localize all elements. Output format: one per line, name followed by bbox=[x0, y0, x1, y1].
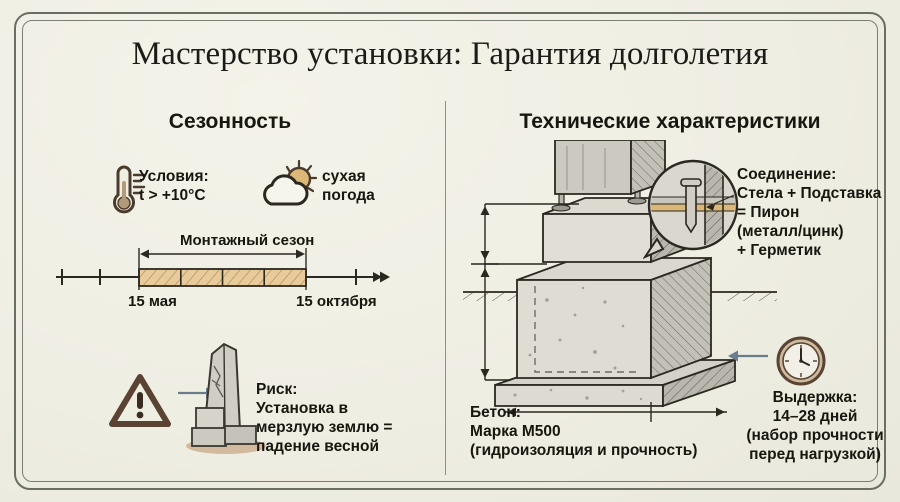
concrete-label: Бетон: Марка М500 (гидроизоляция и прочн… bbox=[470, 403, 697, 460]
curing-label: Выдержка: 14–28 дней (набор прочности пе… bbox=[735, 388, 895, 464]
sun-cloud-icon bbox=[258, 158, 320, 214]
warning-triangle-icon bbox=[108, 372, 172, 430]
section-divider bbox=[445, 101, 446, 475]
page-title: Мастерство установки: Гарантия долголети… bbox=[0, 36, 900, 73]
connection-label: Соединение: Стела + Подставка = Пирон (м… bbox=[737, 165, 881, 260]
clock-icon bbox=[776, 336, 826, 386]
infographic-root: Мастерство установки: Гарантия долголети… bbox=[0, 0, 900, 502]
timeline-end-label: 15 октября bbox=[296, 292, 377, 311]
section-heading-seasonality: Сезонность bbox=[40, 110, 420, 134]
risk-label: Риск: Установка в мерзлую землю = падени… bbox=[256, 380, 392, 456]
section-heading-technical: Технические характеристики bbox=[470, 110, 870, 134]
weather-label: сухая погода bbox=[322, 167, 375, 205]
timeline-start-label: 15 мая bbox=[128, 292, 177, 311]
curing-arrow-icon bbox=[726, 348, 770, 364]
pin-callout-icon bbox=[643, 157, 743, 262]
conditions-label: Условия: t > +10°C bbox=[139, 167, 209, 205]
